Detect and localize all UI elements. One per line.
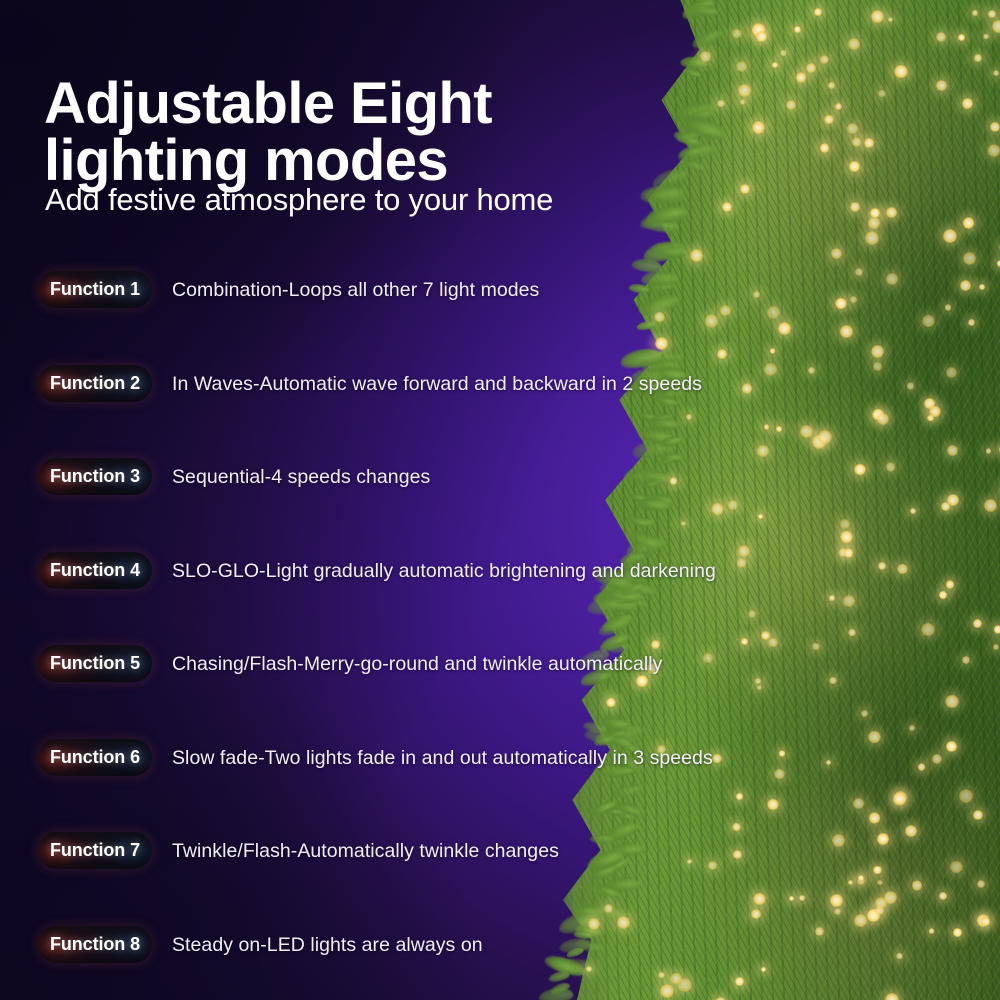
promo-banner: Adjustable Eight lighting modes Add fest…	[0, 0, 1000, 1000]
function-badge[interactable]: Function 2	[38, 365, 152, 402]
function-badge[interactable]: Function 4	[38, 552, 152, 589]
function-badge[interactable]: Function 1	[38, 271, 152, 308]
function-description: Slow fade-Two lights fade in and out aut…	[172, 747, 713, 770]
function-badge[interactable]: Function 7	[38, 832, 152, 869]
function-description: SLO-GLO-Light gradually automatic bright…	[172, 560, 716, 583]
function-description: Steady on-LED lights are always on	[172, 934, 483, 957]
page-subtitle: Add festive atmosphere to your home	[45, 182, 553, 218]
function-row: Function 8Steady on-LED lights are alway…	[38, 926, 738, 1000]
function-description: Twinkle/Flash-Automatically twinkle chan…	[172, 840, 559, 863]
title-line-1: Adjustable Eight	[44, 71, 492, 136]
function-description: In Waves-Automatic wave forward and back…	[172, 373, 702, 396]
function-badge[interactable]: Function 8	[38, 926, 152, 963]
function-row: Function 3Sequential-4 speeds changes	[38, 458, 738, 552]
function-row: Function 6Slow fade-Two lights fade in a…	[38, 739, 738, 833]
page-title: Adjustable Eight lighting modes	[44, 75, 664, 190]
function-badge-label: Function 3	[50, 466, 140, 487]
function-description: Combination-Loops all other 7 light mode…	[172, 279, 539, 302]
function-badge-label: Function 1	[50, 279, 140, 300]
function-badge-label: Function 6	[50, 747, 140, 768]
function-row: Function 7Twinkle/Flash-Automatically tw…	[38, 832, 738, 926]
function-badge-label: Function 7	[50, 840, 140, 861]
function-description: Chasing/Flash-Merry-go-round and twinkle…	[172, 653, 662, 676]
function-badge-label: Function 8	[50, 934, 140, 955]
function-badge-label: Function 5	[50, 653, 140, 674]
function-badge-label: Function 4	[50, 560, 140, 581]
function-row: Function 4SLO-GLO-Light gradually automa…	[38, 552, 738, 646]
function-badge-label: Function 2	[50, 373, 140, 394]
function-row: Function 1Combination-Loops all other 7 …	[38, 271, 738, 365]
function-row: Function 5Chasing/Flash-Merry-go-round a…	[38, 645, 738, 739]
function-badge[interactable]: Function 5	[38, 645, 152, 682]
function-badge[interactable]: Function 3	[38, 458, 152, 495]
function-description: Sequential-4 speeds changes	[172, 466, 430, 489]
function-row: Function 2In Waves-Automatic wave forwar…	[38, 365, 738, 459]
function-list: Function 1Combination-Loops all other 7 …	[38, 271, 738, 1000]
function-badge[interactable]: Function 6	[38, 739, 152, 776]
